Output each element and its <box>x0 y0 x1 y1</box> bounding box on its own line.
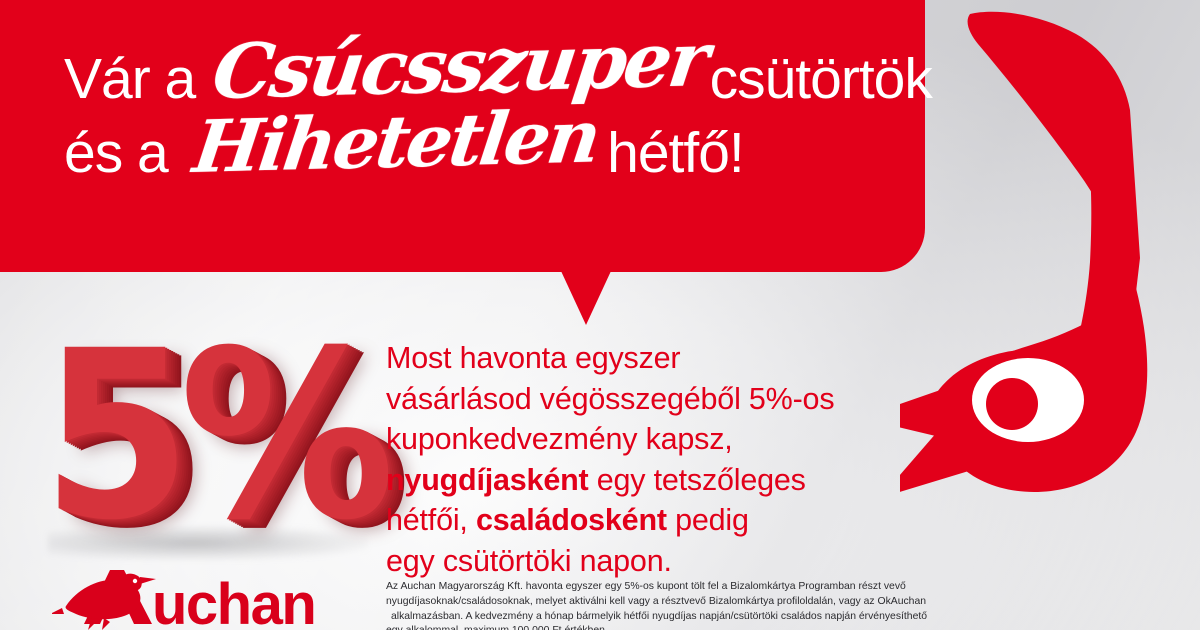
fineprint-line-1: Az Auchan Magyarország Kft. havonta egys… <box>386 580 1186 595</box>
headline-line1-suffix: csütörtök <box>710 50 932 110</box>
headline-line2-suffix: hétfő! <box>607 124 744 184</box>
offer-line-6: egy csütörtöki napon. <box>386 541 946 582</box>
offer-description: Most havonta egyszer vásárlásod végössze… <box>386 338 946 581</box>
offer-line-5: hétfői, családosként pedig <box>386 500 946 541</box>
headline-line1-script-word: Csúcsszuper <box>209 25 710 107</box>
offer-line-4-rest: egy tetszőleges <box>588 463 805 497</box>
fineprint-line-4: egy alkalommal, maximum 100 000 Ft érték… <box>386 624 1186 630</box>
fineprint-line-2: nyugdíjasoknak/családosoknak, melyet akt… <box>386 595 1186 610</box>
svg-text:uchan: uchan <box>152 572 315 630</box>
offer-line-1: Most havonta egyszer <box>386 338 946 379</box>
speech-bubble-tail <box>561 271 611 325</box>
headline-line2-script-word: Hihetetlen <box>190 103 602 180</box>
offer-bold-family: családosként <box>476 503 667 537</box>
fineprint-line-3: alkalmazásban. A kedvezmény a hónap bárm… <box>386 610 1186 625</box>
offer-line-5-rest: pedig <box>667 503 749 537</box>
discount-percent-graphic: 5% <box>42 318 392 566</box>
headline-line2-prefix: és a <box>64 124 168 184</box>
headline-line1-prefix: Vár a <box>64 50 195 110</box>
headline: Vár a Csúcsszuper csütörtök és a Hihetet… <box>64 38 914 184</box>
auchan-logo: uchan <box>52 566 352 630</box>
offer-bold-pensioner: nyugdíjasként <box>386 463 588 497</box>
discount-percent-value: 5% <box>42 300 383 571</box>
legal-fineprint: Az Auchan Magyarország Kft. havonta egys… <box>386 580 1186 630</box>
offer-line-2: vásárlásod végösszegéből 5%-os <box>386 379 946 420</box>
promo-banner: Vár a Csúcsszuper csütörtök és a Hihetet… <box>0 0 1200 630</box>
offer-line-4: nyugdíjasként egy tetszőleges <box>386 460 946 501</box>
offer-line-3: kuponkedvezmény kapsz, <box>386 419 946 460</box>
offer-line-5-pre: hétfői, <box>386 503 476 537</box>
